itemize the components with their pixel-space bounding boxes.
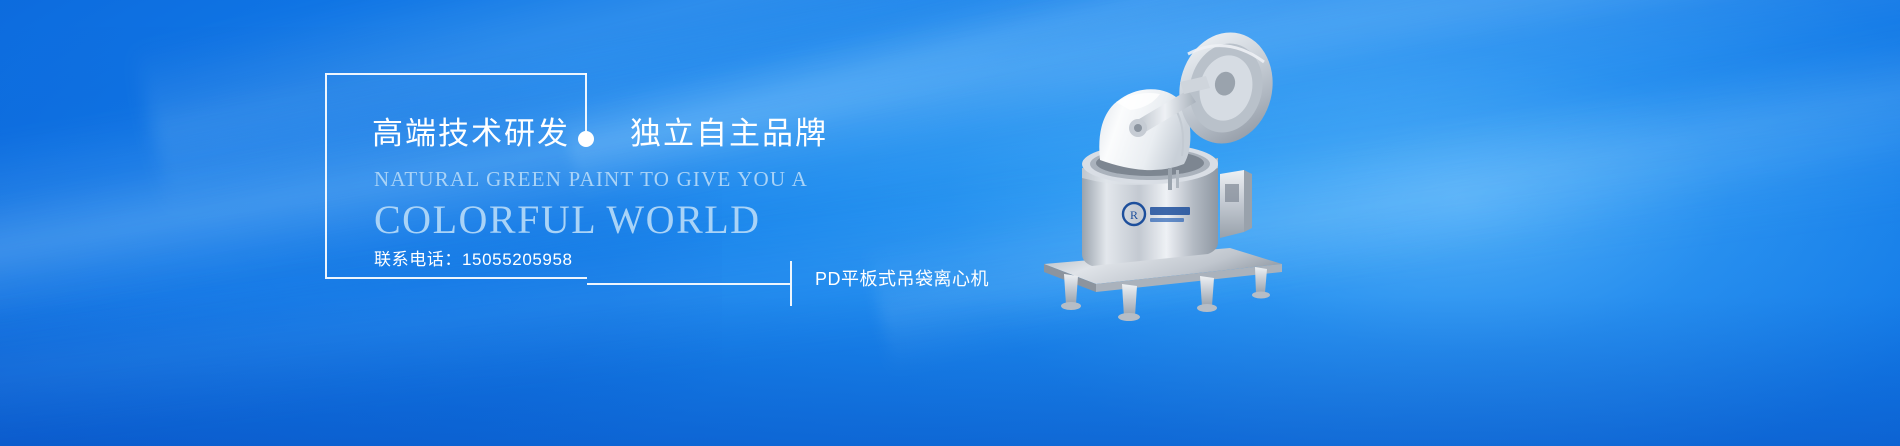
- headline-left: 高端技术研发: [372, 118, 570, 149]
- background-gradient: [0, 0, 1900, 446]
- svg-text:R: R: [1130, 208, 1138, 222]
- caption-tick: [790, 261, 792, 306]
- caption-rule: [587, 283, 790, 285]
- headline-right: 独立自主品牌: [630, 118, 828, 149]
- product-caption: PD平板式吊袋离心机: [815, 270, 989, 288]
- tagline-big: COLORFUL WORLD: [374, 200, 761, 240]
- product-image: R: [1030, 18, 1330, 338]
- contact-phone: 联系电话：15055205958: [374, 251, 573, 268]
- headline: 高端技术研发 独立自主品牌: [372, 118, 828, 149]
- promo-banner: R 高端技术研发 独立自主品牌 NATURAL GREEN PAINT TO G…: [0, 0, 1900, 446]
- tagline-small: NATURAL GREEN PAINT TO GIVE YOU A: [374, 169, 808, 190]
- machine-control-box: [1220, 170, 1252, 238]
